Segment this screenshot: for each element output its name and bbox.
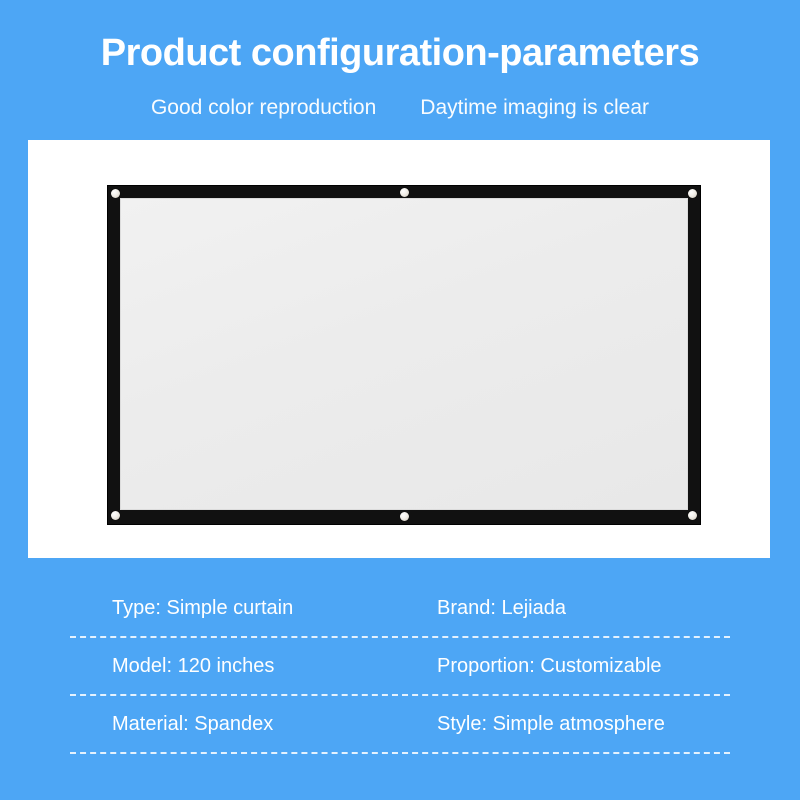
- specifications-table: Type: Simple curtain Brand: Lejiada Mode…: [70, 580, 730, 754]
- grommet-icon-top-left: [111, 189, 120, 198]
- header-banner: Product configuration-parameters Good co…: [0, 0, 800, 140]
- spec-proportion: Proportion: Customizable: [395, 655, 730, 678]
- spec-brand: Brand: Lejiada: [395, 597, 730, 620]
- spec-model: Model: 120 inches: [70, 655, 395, 678]
- grommet-icon-bottom-right: [688, 511, 697, 520]
- table-row: Model: 120 inches Proportion: Customizab…: [70, 638, 730, 696]
- subtitle-daytime-imaging: Daytime imaging is clear: [420, 96, 649, 120]
- subtitle-color-reproduction: Good color reproduction: [151, 96, 376, 120]
- page-title: Product configuration-parameters: [0, 32, 800, 75]
- projection-screen-frame: [107, 185, 701, 525]
- grommet-icon-bottom-left: [111, 511, 120, 520]
- grommet-icon-top-right: [688, 189, 697, 198]
- grommet-icon-bottom-center: [400, 512, 409, 521]
- spec-material: Material: Spandex: [70, 713, 395, 736]
- grommet-icon-top-center: [400, 188, 409, 197]
- spec-type: Type: Simple curtain: [70, 597, 395, 620]
- table-row: Material: Spandex Style: Simple atmosphe…: [70, 696, 730, 754]
- spec-style: Style: Simple atmosphere: [395, 713, 730, 736]
- subtitle-row: Good color reproduction Daytime imaging …: [0, 96, 800, 120]
- table-row: Type: Simple curtain Brand: Lejiada: [70, 580, 730, 638]
- product-image-card: [28, 140, 770, 558]
- projection-screen-surface: [120, 198, 688, 510]
